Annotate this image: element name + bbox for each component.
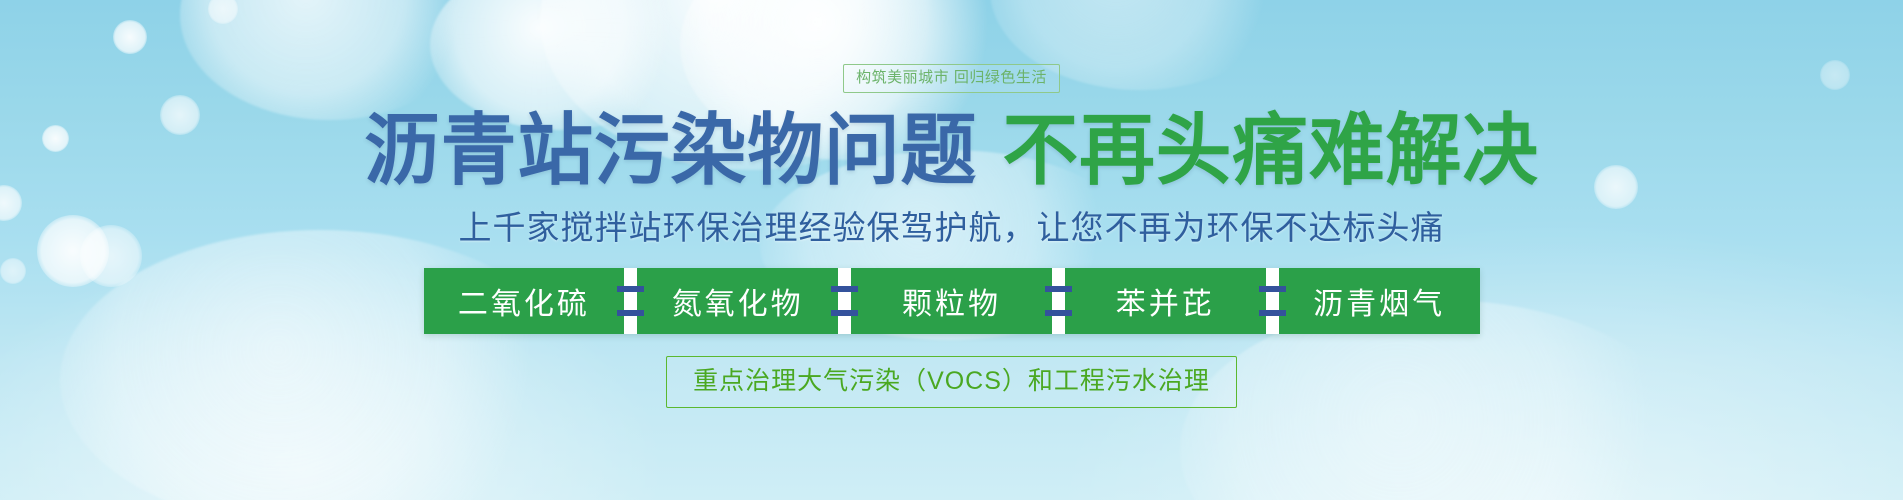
pollutant-tag-bar: 二氧化硫 氮氧化物 颗粒物 苯并芘 沥青烟气 [424,268,1480,334]
subtitle: 上千家搅拌站环保治理经验保驾护航，让您不再为环保不达标头痛 [459,207,1445,248]
headline-green-text: 不再头痛难解决 [1002,111,1538,189]
tag-item[interactable]: 颗粒物 [851,268,1052,334]
tag-item[interactable]: 苯并芘 [1065,268,1266,334]
tag-item[interactable]: 二氧化硫 [424,268,625,334]
hero-banner: 构筑美丽城市 回归绿色生活 沥青站污染物问题 不再头痛难解决 上千家搅拌站环保治… [0,0,1903,500]
bottom-note-badge: 重点治理大气污染（VOCS）和工程污水治理 [666,356,1237,408]
banner-content: 构筑美丽城市 回归绿色生活 沥青站污染物问题 不再头痛难解决 上千家搅拌站环保治… [0,0,1903,500]
tag-item[interactable]: 氮氧化物 [637,268,838,334]
headline: 沥青站污染物问题 不再头痛难解决 [364,111,1539,189]
tag-separator [838,268,851,334]
headline-blue-text: 沥青站污染物问题 [364,111,977,189]
tag-item[interactable]: 沥青烟气 [1279,268,1480,334]
tag-separator [1266,268,1279,334]
tag-separator [1052,268,1065,334]
tagline-badge: 构筑美丽城市 回归绿色生活 [843,64,1060,93]
tag-separator [624,268,637,334]
